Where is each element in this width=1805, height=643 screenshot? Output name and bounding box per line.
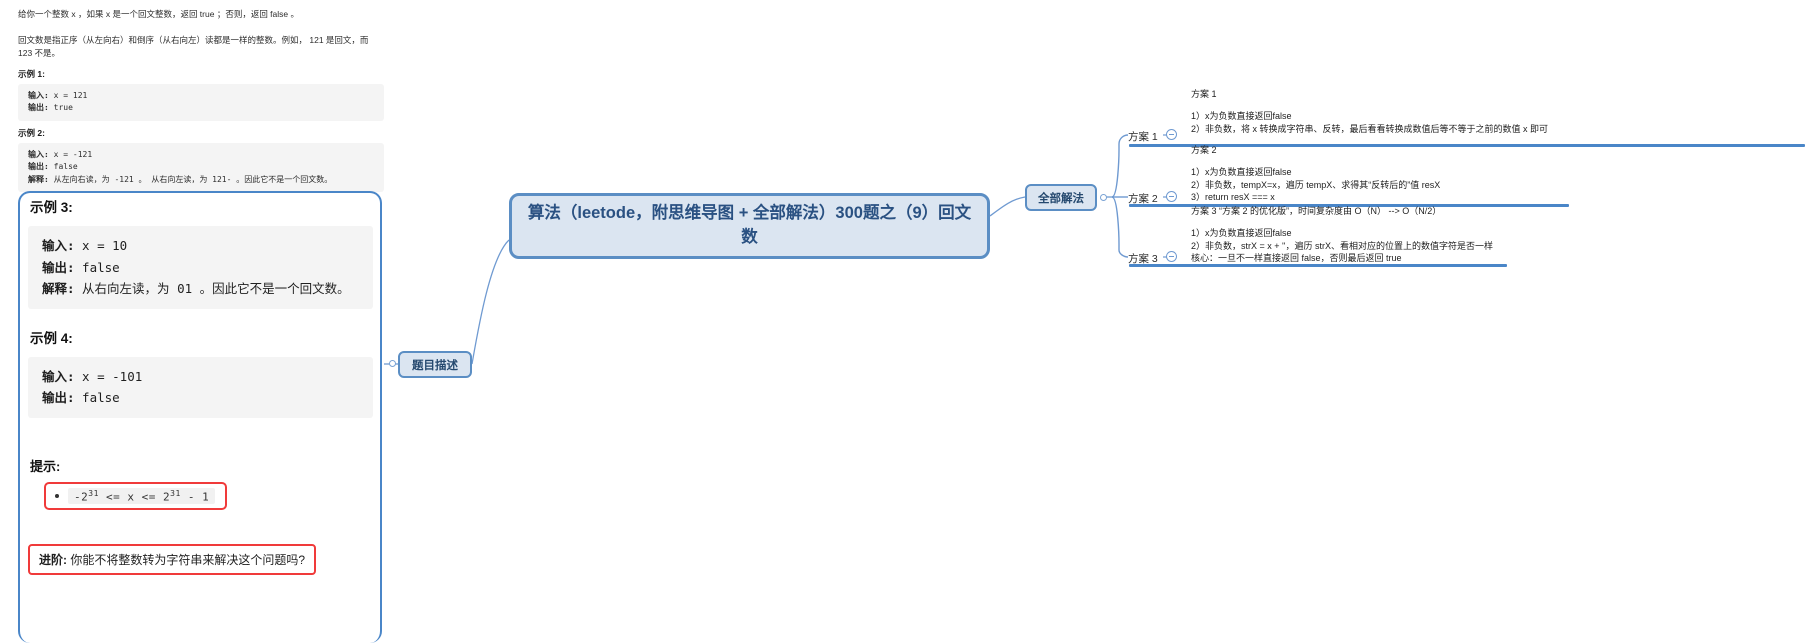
example-1-input-row: 输入: x = 121 bbox=[28, 90, 374, 102]
branch-detail-3-line-3: 核心：一旦不一样直接返回 false，否则最后返回 true bbox=[1191, 252, 1493, 265]
advanced-section: 进阶: 你能不将整数转为字符串来解决这个问题吗? bbox=[28, 544, 373, 575]
all-solutions-handle-icon[interactable] bbox=[1100, 194, 1107, 201]
example-2-output-row: 输出: false bbox=[28, 161, 374, 173]
branch-detail-3-line-2: 2）非负数，strX = x + ''，遍历 strX、看相对应的位置上的数值字… bbox=[1191, 240, 1493, 253]
example-3-input-row: 输入: x = 10 bbox=[42, 235, 359, 257]
input-value: x = -121 bbox=[49, 150, 92, 159]
branch-label-2[interactable]: 方案 2 bbox=[1128, 191, 1158, 206]
branch-detail-2-line-1: 1）x为负数直接返回false bbox=[1191, 166, 1440, 179]
example-4-title: 示例 4: bbox=[30, 327, 373, 347]
branch-detail-1-title: 方案 1 bbox=[1191, 88, 1548, 101]
node-problem-description-label: 题目描述 bbox=[412, 357, 458, 373]
advanced-text: 你能不将整数转为字符串来解决这个问题吗? bbox=[67, 553, 305, 567]
branch-detail-1-line-1: 1）x为负数直接返回false bbox=[1191, 110, 1548, 123]
advanced-highlight: 进阶: 你能不将整数转为字符串来解决这个问题吗? bbox=[28, 544, 316, 575]
example-1-output-row: 输出: true bbox=[28, 102, 374, 114]
branch-detail-2-title: 方案 2 bbox=[1191, 144, 1440, 157]
input-value: x = 121 bbox=[49, 91, 88, 100]
branch-label-3[interactable]: 方案 3 bbox=[1128, 251, 1158, 266]
node-problem-description[interactable]: 题目描述 bbox=[398, 351, 472, 378]
branch-label-3-text: 方案 3 bbox=[1128, 253, 1158, 265]
input-value: x = 10 bbox=[75, 238, 128, 253]
hint-bullet-row: -231 <= x <= 231 - 1 bbox=[52, 488, 215, 505]
input-label: 输入: bbox=[42, 238, 75, 253]
branch-detail-2-line-3: 3）return resX === x bbox=[1191, 191, 1440, 204]
example-3-code: 输入: x = 10 输出: false 解释: 从右向左读，为 01 。因此它… bbox=[28, 226, 373, 309]
constraint-formula: -231 <= x <= 231 - 1 bbox=[68, 488, 215, 505]
hint-title: 提示: bbox=[30, 456, 373, 475]
node-all-solutions-label: 全部解法 bbox=[1038, 190, 1084, 206]
branch-label-2-text: 方案 2 bbox=[1128, 193, 1158, 205]
intro-text-1: 给你一个整数 x ，如果 x 是一个回文整数，返回 true ；否则，返回 fa… bbox=[18, 9, 299, 19]
output-label: 输出: bbox=[42, 260, 75, 275]
explain-value: 从右向左读，为 01 。因此它不是一个回文数。 bbox=[75, 281, 350, 296]
example-2-code: 输入: x = -121 输出: false 解释: 从左向右读，为 -121 … bbox=[18, 143, 384, 192]
formula-mid: <= x <= 2 bbox=[99, 490, 170, 503]
enlarged-document: 示例 3: 输入: x = 10 输出: false 解释: 从右向左读，为 0… bbox=[28, 196, 373, 575]
example-4-output-row: 输出: false bbox=[42, 387, 359, 409]
collapse-toggle-1-icon[interactable] bbox=[1166, 129, 1177, 140]
hint-constraint-highlight: -231 <= x <= 231 - 1 bbox=[44, 482, 227, 511]
example-2-block: 示例 2: 输入: x = -121 输出: false 解释: 从左向右读，为… bbox=[18, 127, 384, 200]
output-label: 输出: bbox=[28, 103, 49, 112]
branch-detail-2-line-2: 2）非负数，tempX=x，遍历 tempX、求得其“反转后的”值 resX bbox=[1191, 179, 1440, 192]
bullet-icon bbox=[55, 494, 59, 498]
output-label: 输出: bbox=[28, 162, 49, 171]
example-1-code: 输入: x = 121 输出: true bbox=[18, 84, 384, 121]
example-2-title: 示例 2: bbox=[18, 127, 384, 139]
example-1-title: 示例 1: bbox=[18, 68, 384, 80]
input-label: 输入: bbox=[28, 91, 49, 100]
branch-detail-2[interactable]: 方案 2 1）x为负数直接返回false 2）非负数，tempX=x，遍历 te… bbox=[1191, 144, 1440, 204]
example-4-code: 输入: x = -101 输出: false bbox=[28, 357, 373, 418]
output-value: false bbox=[75, 390, 120, 405]
example-1-block: 示例 1: 输入: x = 121 输出: true bbox=[18, 68, 384, 129]
example-3-title: 示例 3: bbox=[30, 196, 373, 216]
formula-pre: -2 bbox=[74, 490, 88, 503]
branch-detail-1-line-2: 2）非负数，将 x 转换成字符串、反转，最后看看转换成数值后等不等于之前的数值 … bbox=[1191, 123, 1548, 136]
output-value: false bbox=[75, 260, 120, 275]
branch-detail-3[interactable]: 方案 3 “方案 2 的优化版”，时间复杂度由 O（N） --> O（N/2） … bbox=[1191, 205, 1493, 265]
root-node-label: 算法（leetode，附思维导图 + 全部解法）300题之（9）回文数 bbox=[526, 202, 973, 250]
explain-label: 解释: bbox=[42, 281, 75, 296]
node-all-solutions[interactable]: 全部解法 bbox=[1025, 184, 1097, 211]
output-value: false bbox=[49, 162, 78, 171]
mindmap-canvas: 给你一个整数 x ，如果 x 是一个回文整数，返回 true ；否则，返回 fa… bbox=[0, 0, 1805, 637]
formula-post: - 1 bbox=[181, 490, 210, 503]
example-3-output-row: 输出: false bbox=[42, 257, 359, 279]
explain-label: 解释: bbox=[28, 175, 49, 184]
example-2-explain-row: 解释: 从左向右读，为 -121 。 从右向左读，为 121- 。因此它不是一个… bbox=[28, 174, 374, 186]
intro-paragraph-2: 回文数是指正序（从左向右）和倒序（从右向左）读都是一样的整数。例如， 121 是… bbox=[18, 34, 384, 61]
intro-text-2: 回文数是指正序（从左向右）和倒序（从右向左）读都是一样的整数。例如， 121 是… bbox=[18, 35, 368, 59]
branch-detail-1[interactable]: 方案 1 1）x为负数直接返回false 2）非负数，将 x 转换成字符串、反转… bbox=[1191, 88, 1548, 135]
problem-description-document: 给你一个整数 x ，如果 x 是一个回文整数，返回 true ；否则，返回 fa… bbox=[18, 8, 384, 73]
output-value: true bbox=[49, 103, 73, 112]
formula-sup-2: 31 bbox=[170, 489, 181, 498]
example-3-explain-row: 解释: 从右向左读，为 01 。因此它不是一个回文数。 bbox=[42, 278, 359, 300]
example-2-input-row: 输入: x = -121 bbox=[28, 149, 374, 161]
topic-node-handle-icon[interactable] bbox=[389, 360, 396, 367]
explain-value: 从左向右读，为 -121 。 从右向左读，为 121- 。因此它不是一个回文数。 bbox=[49, 175, 332, 184]
advanced-label: 进阶: bbox=[39, 553, 67, 567]
input-label: 输入: bbox=[28, 150, 49, 159]
input-value: x = -101 bbox=[75, 369, 143, 384]
intro-paragraph-1: 给你一个整数 x ，如果 x 是一个回文整数，返回 true ；否则，返回 fa… bbox=[18, 8, 384, 22]
branch-label-1[interactable]: 方案 1 bbox=[1128, 129, 1158, 144]
formula-sup-1: 31 bbox=[88, 489, 99, 498]
collapse-toggle-3-icon[interactable] bbox=[1166, 251, 1177, 262]
example-4-input-row: 输入: x = -101 bbox=[42, 366, 359, 388]
input-label: 输入: bbox=[42, 369, 75, 384]
branch-detail-3-line-1: 1）x为负数直接返回false bbox=[1191, 227, 1493, 240]
branch-detail-3-title: 方案 3 “方案 2 的优化版”，时间复杂度由 O（N） --> O（N/2） bbox=[1191, 205, 1493, 218]
branch-label-1-text: 方案 1 bbox=[1128, 131, 1158, 143]
collapse-toggle-2-icon[interactable] bbox=[1166, 191, 1177, 202]
output-label: 输出: bbox=[42, 390, 75, 405]
root-node[interactable]: 算法（leetode，附思维导图 + 全部解法）300题之（9）回文数 bbox=[509, 193, 990, 259]
